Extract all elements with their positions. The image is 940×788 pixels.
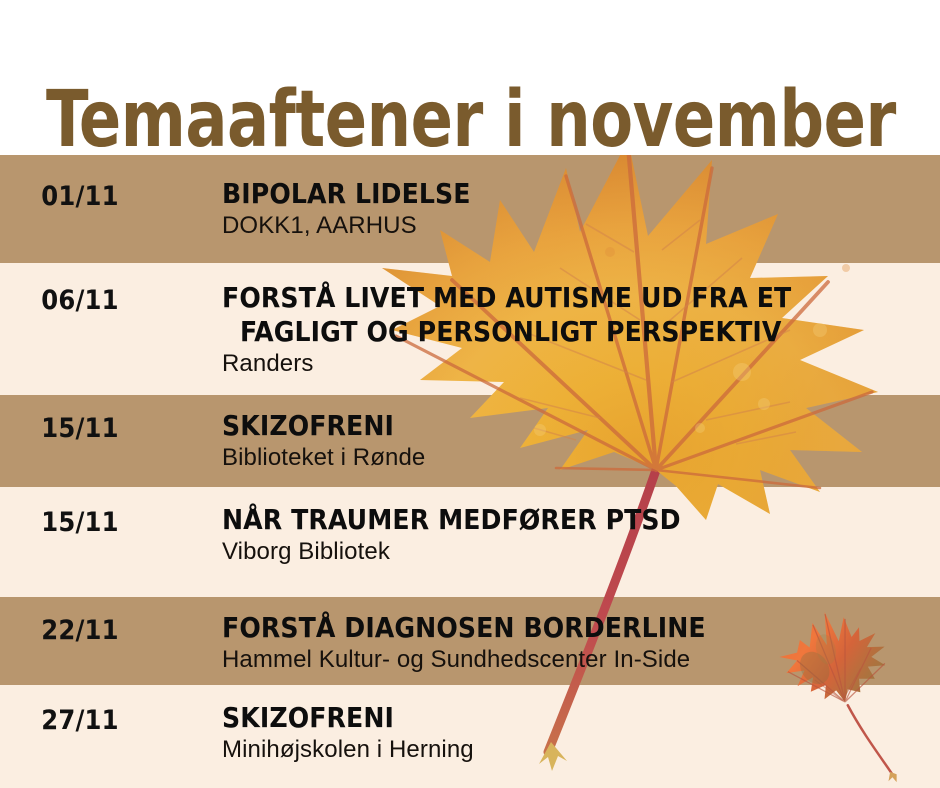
schedule-row[interactable]: 27/11SKIZOFRENIMinihøjskolen i Herning xyxy=(0,685,940,788)
row-date: 15/11 xyxy=(0,507,160,539)
row-title: SKIZOFRENI xyxy=(222,409,922,443)
row-title: FORSTÅ DIAGNOSEN BORDERLINE xyxy=(222,611,922,645)
row-title: NÅR TRAUMER MEDFØRER PTSD xyxy=(222,503,922,537)
row-body: FORSTÅ LIVET MED AUTISME UD FRA ETFAGLIG… xyxy=(222,281,922,379)
poster-canvas: 01/11BIPOLAR LIDELSEDOKK1, AARHUS06/11FO… xyxy=(0,0,940,788)
row-body: SKIZOFRENIBiblioteket i Rønde xyxy=(222,409,922,473)
poster-header: Temaaftener i november xyxy=(0,0,940,155)
page-title: Temaaftener i november xyxy=(46,78,811,162)
schedule-row[interactable]: 22/11FORSTÅ DIAGNOSEN BORDERLINEHammel K… xyxy=(0,597,940,685)
row-title-line-1: FORSTÅ LIVET MED AUTISME UD FRA ET xyxy=(222,281,791,314)
schedule-row[interactable]: 15/11NÅR TRAUMER MEDFØRER PTSDViborg Bib… xyxy=(0,487,940,597)
row-date: 06/11 xyxy=(0,285,160,317)
row-body: NÅR TRAUMER MEDFØRER PTSDViborg Bibliote… xyxy=(222,503,922,567)
schedule-row[interactable]: 15/11SKIZOFRENIBiblioteket i Rønde xyxy=(0,395,940,487)
row-venue: Minihøjskolen i Herning xyxy=(222,735,922,765)
schedule-row[interactable]: 01/11BIPOLAR LIDELSEDOKK1, AARHUS xyxy=(0,155,940,263)
row-body: SKIZOFRENIMinihøjskolen i Herning xyxy=(222,701,922,765)
row-title: BIPOLAR LIDELSE xyxy=(222,177,922,211)
row-date: 15/11 xyxy=(0,413,160,445)
row-venue: Viborg Bibliotek xyxy=(222,537,922,567)
row-title-line-2: FAGLIGT OG PERSONLIGT PERSPEKTIV xyxy=(222,315,822,349)
row-venue: Randers xyxy=(222,349,922,379)
schedule-row[interactable]: 06/11FORSTÅ LIVET MED AUTISME UD FRA ETF… xyxy=(0,263,940,395)
row-venue: Biblioteket i Rønde xyxy=(222,443,922,473)
row-body: BIPOLAR LIDELSEDOKK1, AARHUS xyxy=(222,177,922,241)
row-title: SKIZOFRENI xyxy=(222,701,922,735)
row-date: 22/11 xyxy=(0,615,160,647)
row-date: 27/11 xyxy=(0,705,160,737)
row-body: FORSTÅ DIAGNOSEN BORDERLINEHammel Kultur… xyxy=(222,611,922,675)
row-venue: Hammel Kultur- og Sundhedscenter In-Side xyxy=(222,645,922,675)
row-title: FORSTÅ LIVET MED AUTISME UD FRA ETFAGLIG… xyxy=(222,281,822,349)
row-date: 01/11 xyxy=(0,181,160,213)
row-venue: DOKK1, AARHUS xyxy=(222,211,922,241)
